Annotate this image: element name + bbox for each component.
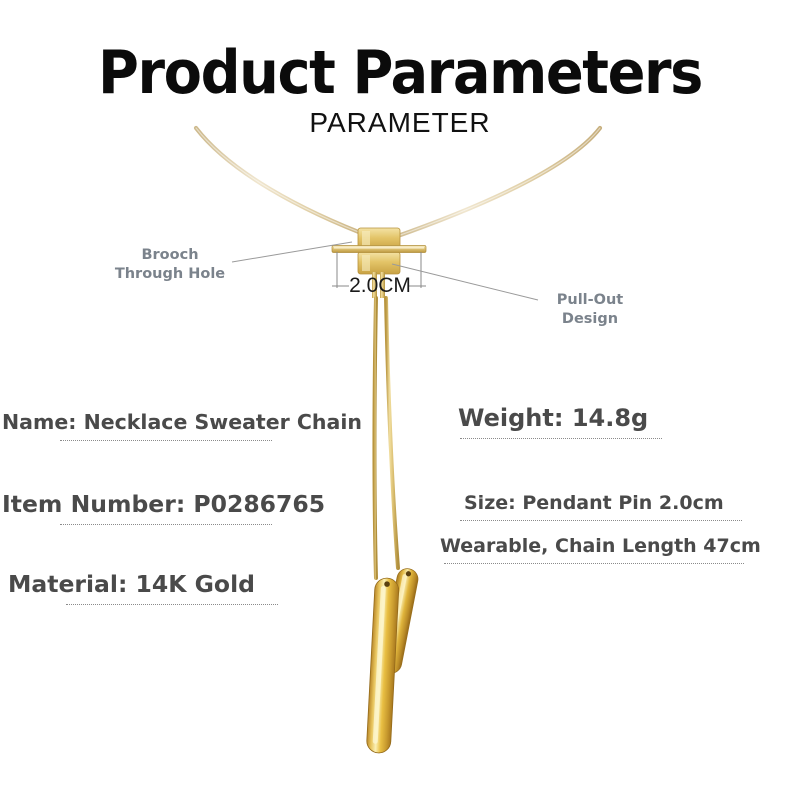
- spec-weight-text: Weight: 14.8g: [458, 404, 648, 432]
- spec-weight: Weight: 14.8g: [458, 404, 662, 439]
- page-title: Product Parameters: [28, 42, 772, 104]
- callout-pullout-line-1: Pull-Out: [557, 292, 624, 308]
- callout-pullout-line-2: Design: [562, 311, 618, 327]
- spec-name-rule: [60, 440, 272, 441]
- spec-size-rule: [460, 520, 742, 521]
- spec-weight-rule: [460, 438, 662, 439]
- spec-size: Size: Pendant Pin 2.0cm: [464, 492, 742, 521]
- callout-brooch-through-hole: Brooch Through Hole: [108, 246, 232, 284]
- chain-lower-left: [375, 298, 377, 578]
- dimension-label: 2.0CM: [340, 274, 420, 298]
- callout-brooch-line-1: Brooch: [141, 247, 198, 263]
- callout-brooch-line-2: Through Hole: [115, 266, 225, 282]
- spec-wearable-rule: [444, 563, 744, 564]
- spec-wearable: Wearable, Chain Length 47cm: [440, 535, 761, 564]
- chain-upper-right: [392, 128, 600, 238]
- spec-item-number-text: Item Number: P0286765: [2, 490, 325, 518]
- spec-material: Material: 14K Gold: [8, 570, 278, 605]
- chain-lower-right: [386, 298, 398, 568]
- spec-name-text: Name: Necklace Sweater Chain: [2, 410, 362, 434]
- spec-wearable-text: Wearable, Chain Length 47cm: [440, 535, 761, 557]
- spec-item-number-rule: [60, 524, 272, 525]
- bar-pendant-long: [366, 578, 399, 754]
- product-parameters-page: Product Parameters PARAMETER Brooch Thro…: [0, 0, 800, 800]
- spec-name: Name: Necklace Sweater Chain: [2, 410, 362, 441]
- spec-item-number: Item Number: P0286765: [2, 490, 325, 525]
- chain-upper-left: [196, 128, 374, 238]
- page-subtitle: PARAMETER: [0, 108, 800, 138]
- callout-pull-out-design: Pull-Out Design: [540, 291, 640, 329]
- spec-material-rule: [66, 604, 278, 605]
- brooch-pin-bar: [332, 246, 426, 253]
- spec-size-text: Size: Pendant Pin 2.0cm: [464, 492, 724, 514]
- spec-material-text: Material: 14K Gold: [8, 570, 255, 598]
